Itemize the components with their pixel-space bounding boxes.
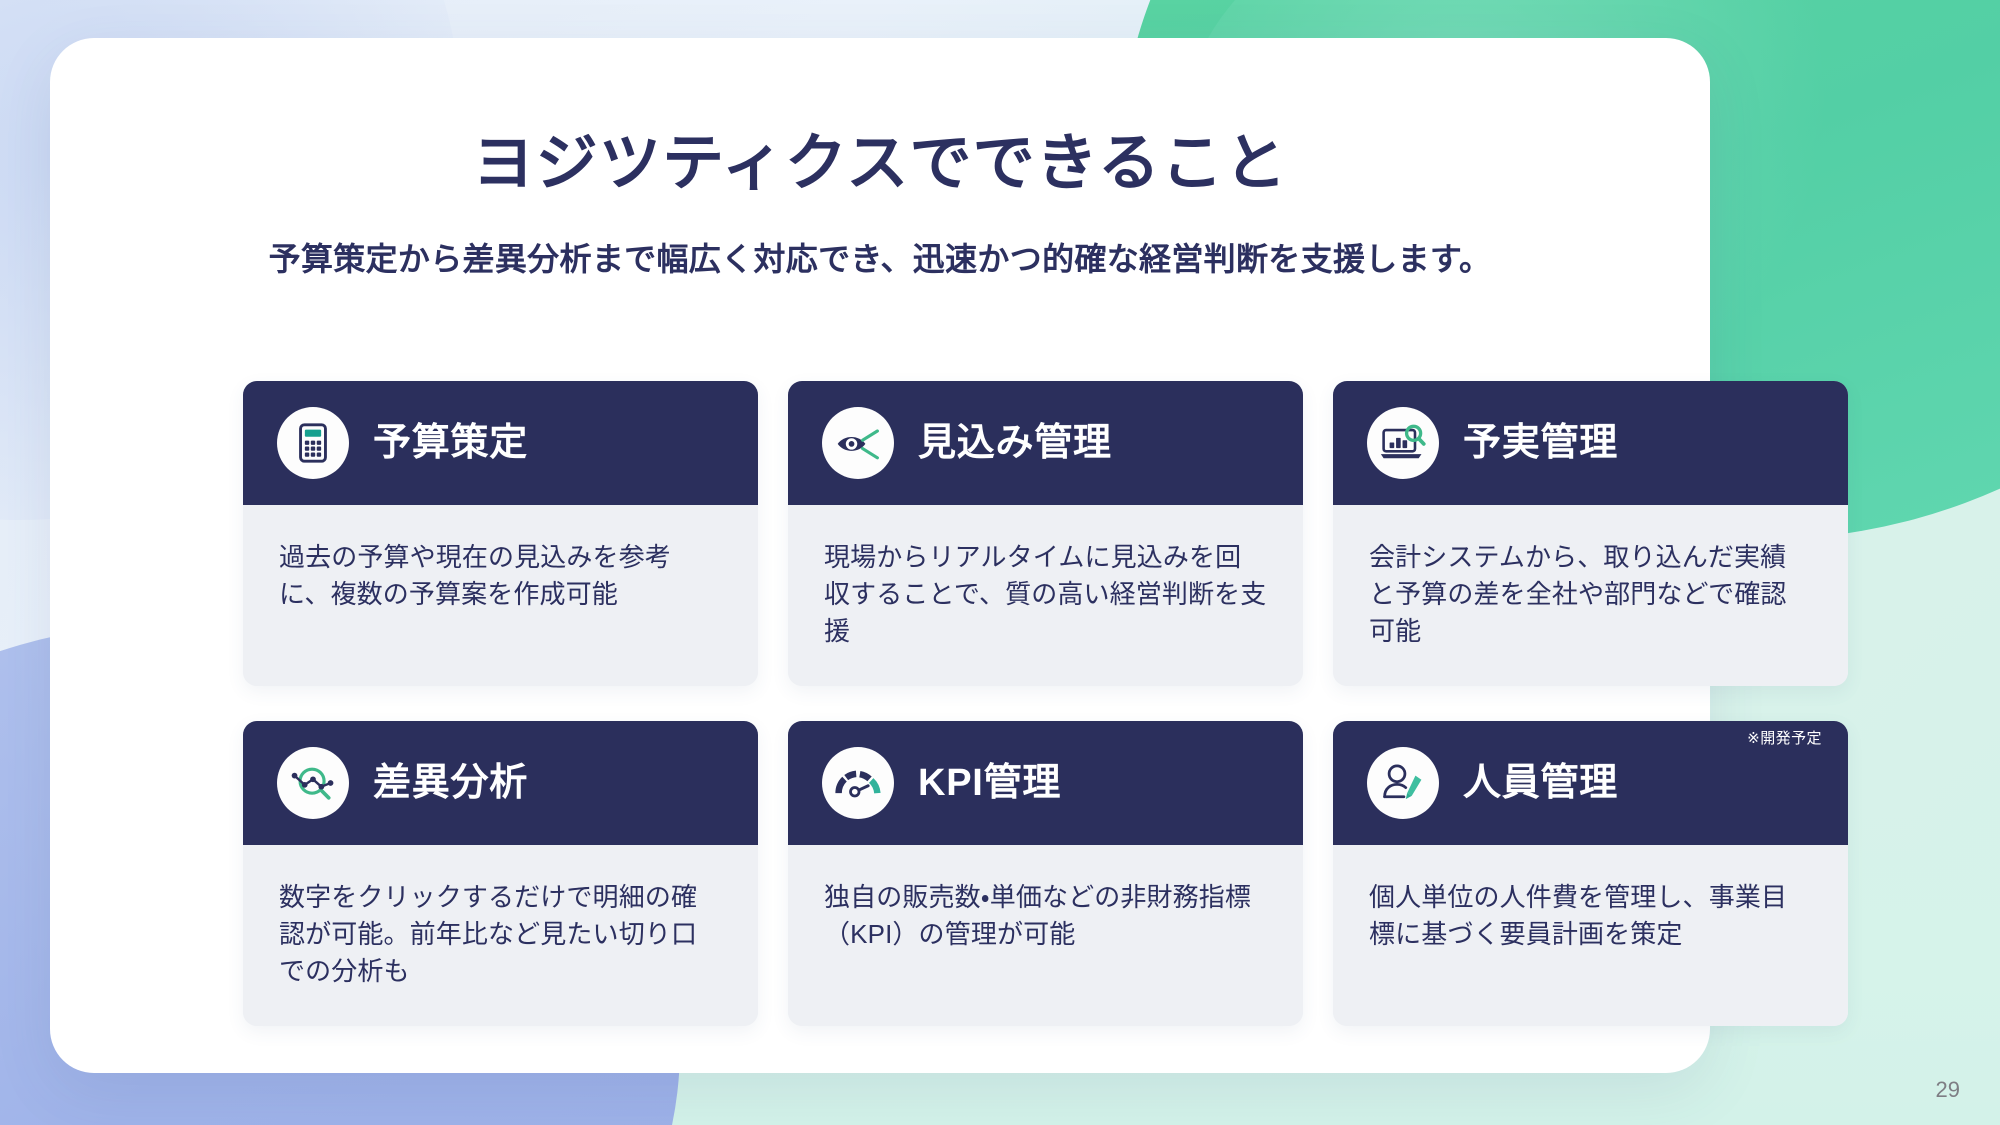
- feature-card-header: 差異分析: [243, 721, 758, 845]
- feature-card-title: 差異分析: [373, 764, 528, 802]
- feature-card-grid: 予算策定 過去の予算や現在の見込みを参考に、複数の予算案を作成可能: [243, 381, 1857, 1026]
- feature-card-header: KPI管理: [788, 721, 1303, 845]
- feature-card[interactable]: 見込み管理 現場からリアルタイムに見込みを回収することで、質の高い経営判断を支援: [788, 381, 1303, 686]
- feature-card-description: 個人単位の人件費を管理し、事業目標に基づく要員計画を策定: [1369, 879, 1812, 953]
- feature-card-body: 会計システムから、取り込んだ実績と予算の差を全社や部門などで確認可能: [1333, 505, 1848, 686]
- line-chart-magnifier-icon: [277, 747, 349, 819]
- feature-card-header: 見込み管理: [788, 381, 1303, 505]
- feature-card-body: 独自の販売数・単価などの非財務指標（KPI）の管理が可能: [788, 845, 1303, 1026]
- feature-card-description: 現場からリアルタイムに見込みを回収することで、質の高い経営判断を支援: [824, 539, 1267, 650]
- feature-card-body: 個人単位の人件費を管理し、事業目標に基づく要員計画を策定: [1333, 845, 1848, 1026]
- calculator-icon: [277, 407, 349, 479]
- laptop-chart-search-icon: [1367, 407, 1439, 479]
- feature-card-title: 人員管理: [1463, 764, 1618, 802]
- feature-card-title: KPI管理: [918, 764, 1061, 802]
- feature-card-description: 独自の販売数・単価などの非財務指標（KPI）の管理が可能: [824, 879, 1267, 953]
- feature-card-title: 見込み管理: [918, 424, 1112, 462]
- content-panel: ヨジツティクスでできること 予算策定から差異分析まで幅広く対応でき、迅速かつ的確…: [50, 38, 1710, 1073]
- feature-card[interactable]: ※開発予定 人員管理 個人単位の人件費を管理し、事業目標に基づく要員計画を策定: [1333, 721, 1848, 1026]
- development-planned-note: ※開発予定: [1747, 731, 1822, 746]
- page-number: 29: [1936, 1079, 1960, 1101]
- feature-card-description: 会計システムから、取り込んだ実績と予算の差を全社や部門などで確認可能: [1369, 539, 1812, 650]
- feature-card-header: 予実管理: [1333, 381, 1848, 505]
- feature-card-body: 現場からリアルタイムに見込みを回収することで、質の高い経営判断を支援: [788, 505, 1303, 686]
- feature-card[interactable]: 差異分析 数字をクリックするだけで明細の確認が可能。前年比など見たい切り口での分…: [243, 721, 758, 1026]
- page-subtitle: 予算策定から差異分析まで幅広く対応でき、迅速かつ的確な経営判断を支援します。: [50, 240, 1710, 278]
- slide-root: ヨジツティクスでできること 予算策定から差異分析まで幅広く対応でき、迅速かつ的確…: [0, 0, 2000, 1125]
- feature-card[interactable]: 予算策定 過去の予算や現在の見込みを参考に、複数の予算案を作成可能: [243, 381, 758, 686]
- feature-card-title: 予実管理: [1463, 424, 1618, 462]
- feature-card-header: 予算策定: [243, 381, 758, 505]
- page-title: ヨジツティクスでできること: [50, 130, 1710, 198]
- feature-card-body: 数字をクリックするだけで明細の確認が可能。前年比など見たい切り口での分析も: [243, 845, 758, 1026]
- feature-card-description: 過去の予算や現在の見込みを参考に、複数の予算案を作成可能: [279, 539, 722, 613]
- gauge-icon: [822, 747, 894, 819]
- feature-card-description: 数字をクリックするだけで明細の確認が可能。前年比など見たい切り口での分析も: [279, 879, 722, 990]
- eye-forecast-icon: [822, 407, 894, 479]
- feature-card[interactable]: KPI管理 独自の販売数・単価などの非財務指標（KPI）の管理が可能: [788, 721, 1303, 1026]
- feature-card-header: ※開発予定 人員管理: [1333, 721, 1848, 845]
- feature-card-title: 予算策定: [373, 424, 528, 462]
- person-pencil-icon: [1367, 747, 1439, 819]
- feature-card-body: 過去の予算や現在の見込みを参考に、複数の予算案を作成可能: [243, 505, 758, 686]
- feature-card[interactable]: 予実管理 会計システムから、取り込んだ実績と予算の差を全社や部門などで確認可能: [1333, 381, 1848, 686]
